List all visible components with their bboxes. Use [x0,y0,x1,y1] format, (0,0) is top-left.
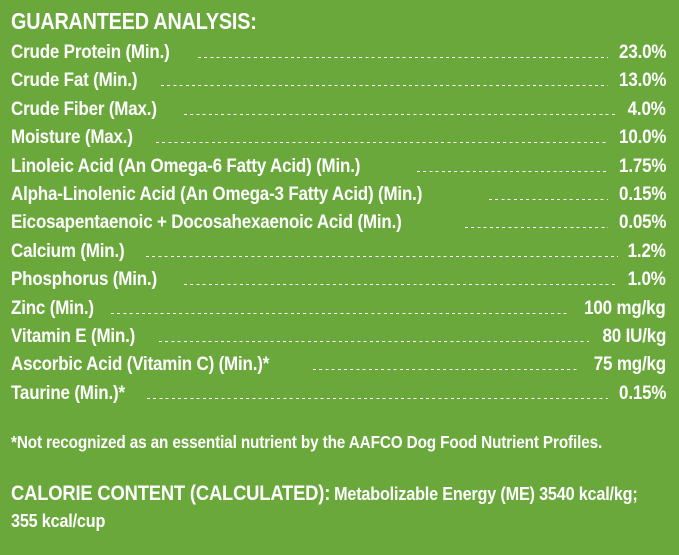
table-row: Vitamin E (Min.)80 IU/kg [11,325,666,353]
nutrient-value: 75 mg/kg [594,353,666,376]
nutrient-name: Vitamin E (Min.) [11,325,138,348]
table-row: Eicosapentaenoic + Docosahexaenoic Acid … [11,211,666,239]
table-row: Crude Fiber (Max.)4.0% [11,98,666,126]
nutrient-value: 0.15% [619,382,666,405]
dot-leader [159,341,589,342]
nutrient-value: 80 IU/kg [602,325,666,348]
nutrient-name: Moisture (Max.) [11,126,135,149]
nutrient-name: Calcium (Min.) [11,240,127,263]
nutrient-name: Ascorbic Acid (Vitamin C) (Min.)* [11,353,272,376]
nutrient-value: 100 mg/kg [585,297,666,320]
nutrient-value: 0.05% [619,211,666,234]
dot-leader [146,256,618,257]
dot-leader [489,199,608,200]
nutrient-name: Crude Fiber (Max.) [11,98,159,121]
dot-leader [156,142,608,143]
nutrient-value: 1.2% [628,240,666,263]
table-row: Crude Protein (Min.)23.0% [11,41,666,69]
nutrient-name: Linoleic Acid (An Omega-6 Fatty Acid) (M… [11,155,363,178]
dot-leader [417,171,607,172]
table-row: Taurine (Min.)*0.15% [11,382,666,410]
table-row: Phosphorus (Min.)1.0% [11,268,666,296]
nutrient-value: 4.0% [628,98,666,121]
nutrient-value: 0.15% [619,183,666,206]
nutrient-value: 1.0% [628,268,666,291]
dot-leader [161,85,608,86]
table-row: Linoleic Acid (An Omega-6 Fatty Acid) (M… [11,155,666,183]
nutrient-value: 23.0% [619,41,666,64]
nutrient-value: 13.0% [619,69,666,92]
guaranteed-analysis-panel: GUARANTEED ANALYSIS: Crude Protein (Min.… [0,0,679,555]
nutrient-name: Phosphorus (Min.) [11,268,160,291]
table-row: Ascorbic Acid (Vitamin C) (Min.)*75 mg/k… [11,353,666,381]
table-row: Alpha-Linolenic Acid (An Omega-3 Fatty A… [11,183,666,211]
nutrient-name: Crude Fat (Min.) [11,69,140,92]
nutrient-name: Alpha-Linolenic Acid (An Omega-3 Fatty A… [11,183,425,206]
footnote-text: *Not recognized as an essential nutrient… [11,432,602,453]
table-row: Crude Fat (Min.)13.0% [11,69,666,97]
dot-leader [313,369,579,370]
dot-leader [184,284,619,285]
dot-leader [184,114,619,115]
dot-leader [147,398,608,399]
calorie-content-title: CALORIE CONTENT (CALCULATED): [11,482,330,505]
dot-leader [465,227,608,228]
table-row: Calcium (Min.)1.2% [11,240,666,268]
page-title: GUARANTEED ANALYSIS: [11,8,257,34]
nutrient-name: Crude Protein (Min.) [11,41,172,64]
nutrient-name: Taurine (Min.)* [11,382,128,405]
table-row: Moisture (Max.)10.0% [11,126,666,154]
table-row: Zinc (Min.)100 mg/kg [11,297,666,325]
nutrient-table: Crude Protein (Min.)23.0%Crude Fat (Min.… [11,41,666,410]
dot-leader [198,57,607,58]
calorie-content-block: CALORIE CONTENT (CALCULATED): Metaboliza… [11,481,667,535]
dot-leader [111,313,568,314]
nutrient-value: 10.0% [619,126,666,149]
nutrient-value: 1.75% [619,155,666,178]
nutrient-name: Eicosapentaenoic + Docosahexaenoic Acid … [11,211,404,234]
nutrient-name: Zinc (Min.) [11,297,97,320]
